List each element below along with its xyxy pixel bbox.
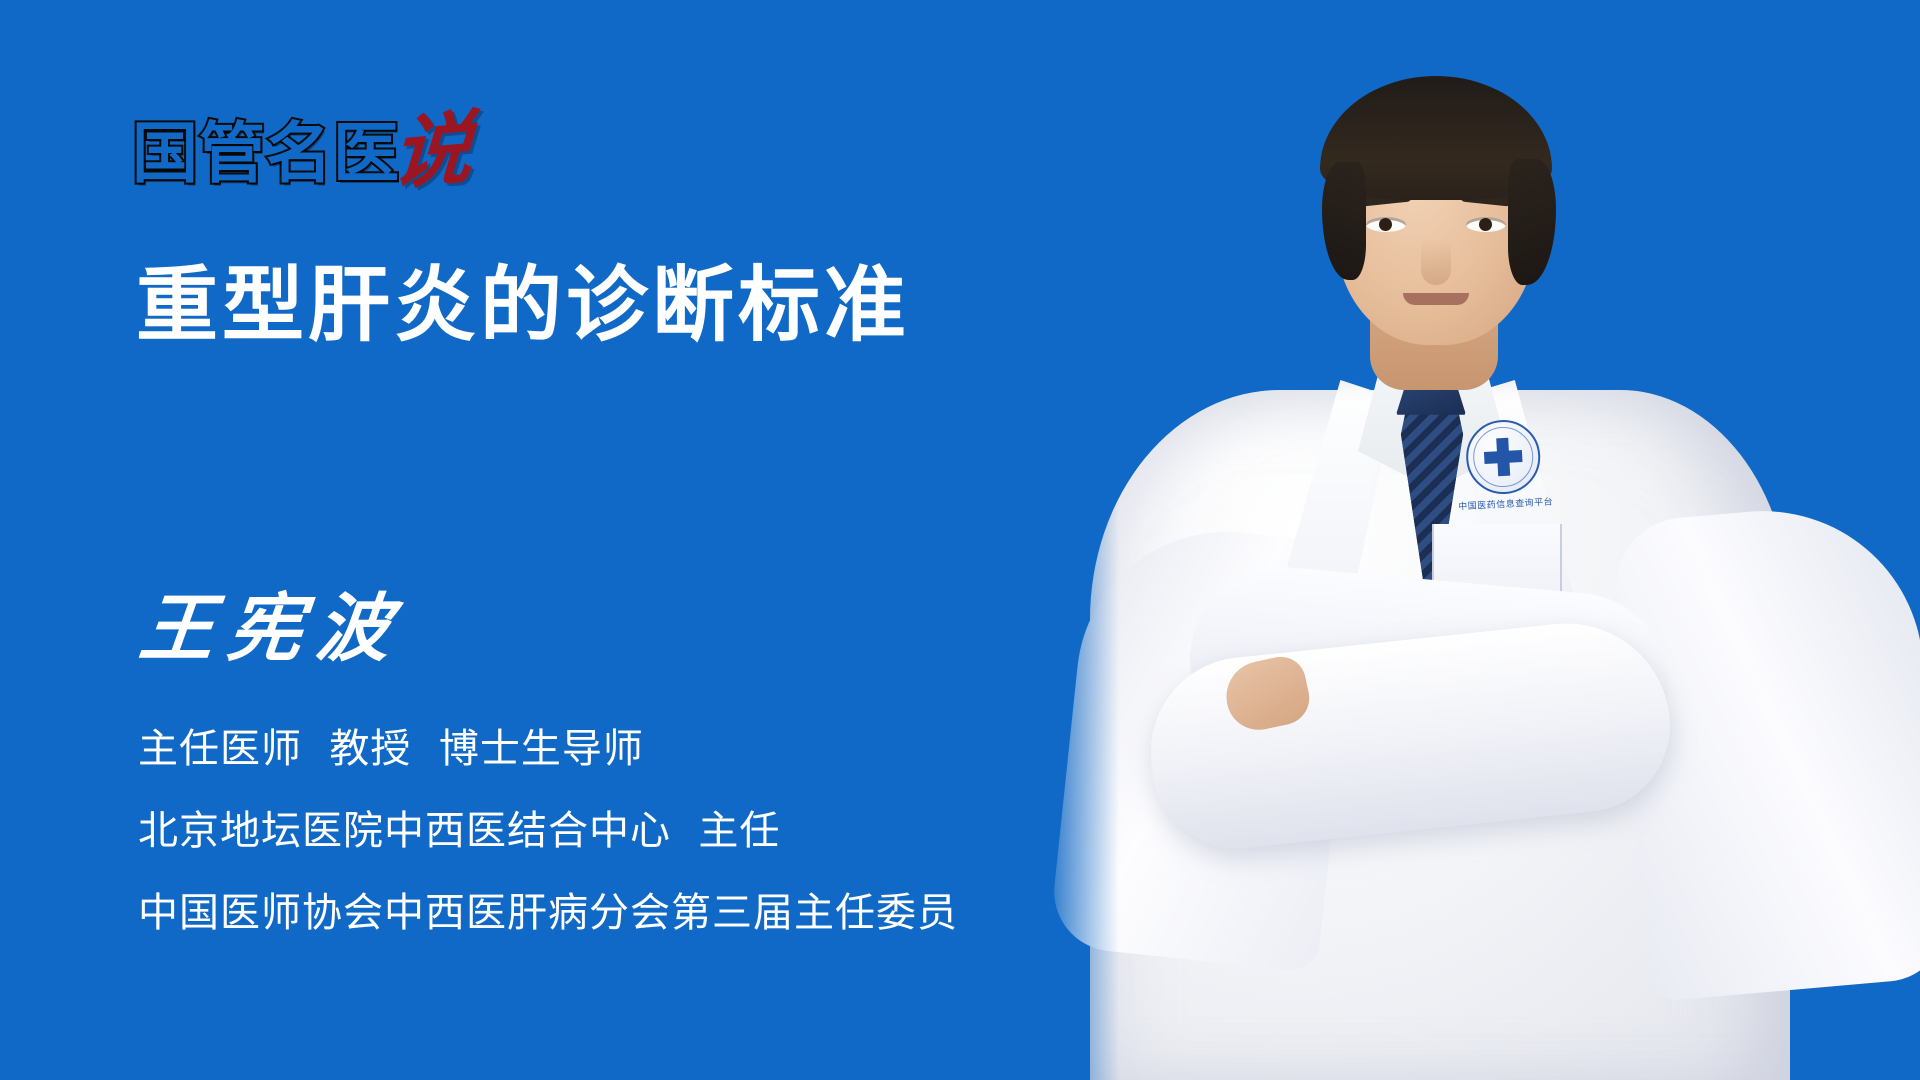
page-title: 重型肝炎的诊断标准 [136,258,910,354]
hair-side-right [1508,159,1556,285]
pupil-right [1479,218,1492,231]
credential-line-3: 中国医师协会中西医肝病分会第三届主任委员 [138,890,958,936]
speaker-credentials: 主任医师 教授 博士生导师 北京地坛医院中西医结合中心 主任 中国医师协会中西医… [138,726,958,936]
hospital-badge-caption: 中国医药信息查询平台 [1458,494,1554,512]
program-logo: 国管名医 说 [132,104,470,190]
doctor-portrait: 中国医药信息查询平台 [1040,0,1920,1080]
hair-side-left [1322,162,1366,280]
program-logo-accent-text: 说 [390,111,474,190]
credential-line-1: 主任医师 教授 博士生导师 [138,726,958,772]
mouth [1403,293,1469,305]
hospital-badge: 中国医药信息查询平台 [1455,418,1552,527]
program-logo-main-text: 国管名医 [132,118,400,190]
medical-cross-emblem-icon [1464,418,1542,496]
credential-line-2: 北京地坛医院中西医结合中心 主任 [138,808,958,854]
eye-right [1466,217,1506,232]
badge-inner-ring [1472,425,1535,488]
eye-left [1366,217,1406,232]
nose [1421,239,1451,285]
speaker-name: 王宪波 [135,586,408,672]
slide-root: 国管名医 说 重型肝炎的诊断标准 王宪波 主任医师 教授 博士生导师 北京地坛医… [0,0,1920,1080]
pupil-left [1379,218,1392,231]
